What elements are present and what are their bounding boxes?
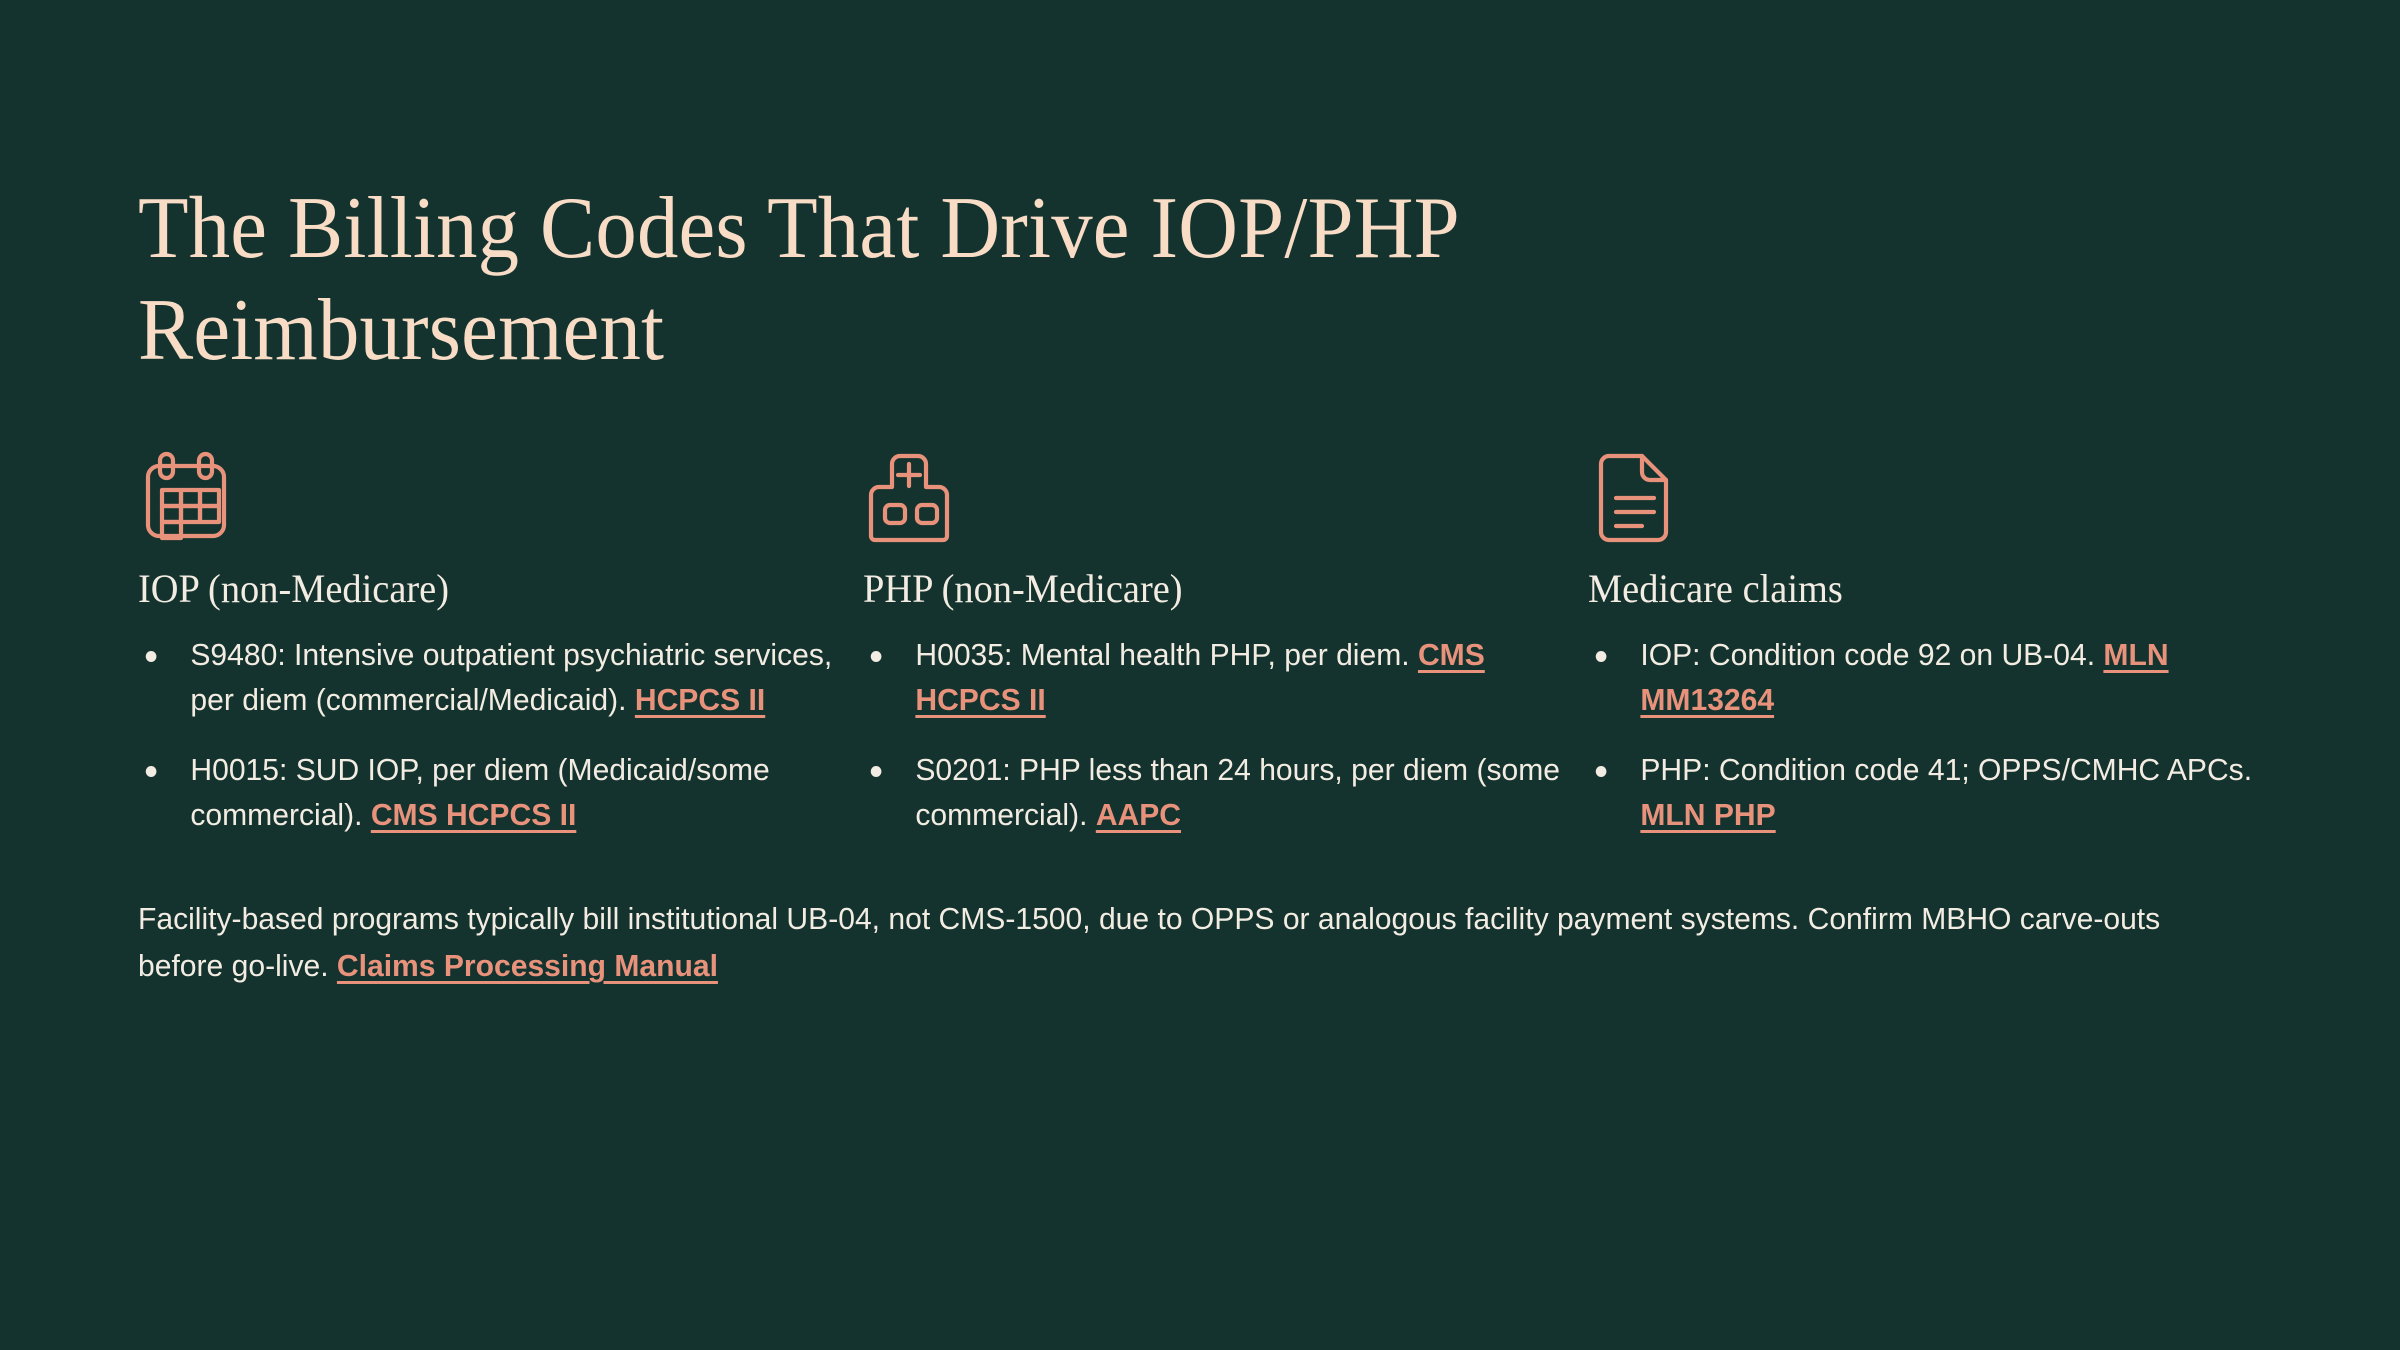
column-heading: Medicare claims xyxy=(1588,564,2284,614)
column-heading: PHP (non-Medicare) xyxy=(863,564,1559,614)
bullet-text: H0035: Mental health PHP, per diem. xyxy=(915,637,1418,672)
document-icon xyxy=(1588,448,2313,544)
column-medicare: Medicare claims IOP: Condition code 92 o… xyxy=(1588,448,2313,837)
column-heading: IOP (non-Medicare) xyxy=(138,564,834,614)
column-iop: IOP (non-Medicare) S9480: Intensive outp… xyxy=(138,448,863,837)
slide: The Billing Codes That Drive IOP/PHP Rei… xyxy=(0,0,2400,1350)
page-title: The Billing Codes That Drive IOP/PHP Rei… xyxy=(138,0,1604,382)
reference-link[interactable]: HCPCS II xyxy=(635,682,765,717)
columns-container: IOP (non-Medicare) S9480: Intensive outp… xyxy=(138,448,2262,837)
reference-link[interactable]: CMS HCPCS II xyxy=(371,797,577,832)
list-item: IOP: Condition code 92 on UB-04. MLN MM1… xyxy=(1588,632,2291,723)
list-item: H0035: Mental health PHP, per diem. CMS … xyxy=(863,632,1566,723)
bullet-text: IOP: Condition code 92 on UB-04. xyxy=(1640,637,2103,672)
hospital-icon xyxy=(863,448,1588,544)
list-item: S0201: PHP less than 24 hours, per diem … xyxy=(863,747,1566,838)
bullet-text: PHP: Condition code 41; OPPS/CMHC APCs. xyxy=(1640,752,2252,787)
calendar-icon xyxy=(138,448,863,544)
column-php: PHP (non-Medicare) H0035: Mental health … xyxy=(863,448,1588,837)
reference-link[interactable]: Claims Processing Manual xyxy=(337,948,718,983)
reference-link[interactable]: AAPC xyxy=(1096,797,1181,832)
list-item: H0015: SUD IOP, per diem (Medicaid/some … xyxy=(138,747,841,838)
list-item: PHP: Condition code 41; OPPS/CMHC APCs. … xyxy=(1588,747,2291,838)
bullet-list: IOP: Condition code 92 on UB-04. MLN MM1… xyxy=(1588,632,2313,837)
bullet-list: S9480: Intensive outpatient psychiatric … xyxy=(138,632,863,837)
footnote: Facility-based programs typically bill i… xyxy=(138,895,2198,989)
reference-link[interactable]: MLN PHP xyxy=(1640,797,1775,832)
list-item: S9480: Intensive outpatient psychiatric … xyxy=(138,632,841,723)
bullet-text: S0201: PHP less than 24 hours, per diem … xyxy=(915,752,1560,832)
bullet-list: H0035: Mental health PHP, per diem. CMS … xyxy=(863,632,1588,837)
